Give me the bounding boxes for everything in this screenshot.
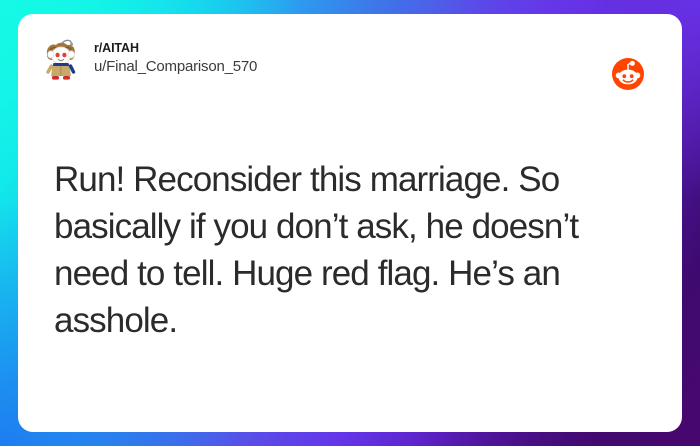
username[interactable]: u/Final_Comparison_570 — [94, 58, 257, 76]
post-header: r/AITAH u/Final_Comparison_570 — [40, 34, 660, 82]
reddit-logo-icon[interactable] — [612, 58, 644, 90]
gradient-background: r/AITAH u/Final_Comparison_570 — [0, 0, 700, 446]
subreddit-name[interactable]: r/AITAH — [94, 41, 257, 56]
post-author-block: r/AITAH u/Final_Comparison_570 — [94, 41, 257, 75]
reddit-post-card: r/AITAH u/Final_Comparison_570 — [18, 14, 682, 432]
post-body-text: Run! Reconsider this marriage. So basica… — [54, 156, 648, 344]
reddit-snoo-avatar-icon[interactable] — [40, 35, 82, 81]
